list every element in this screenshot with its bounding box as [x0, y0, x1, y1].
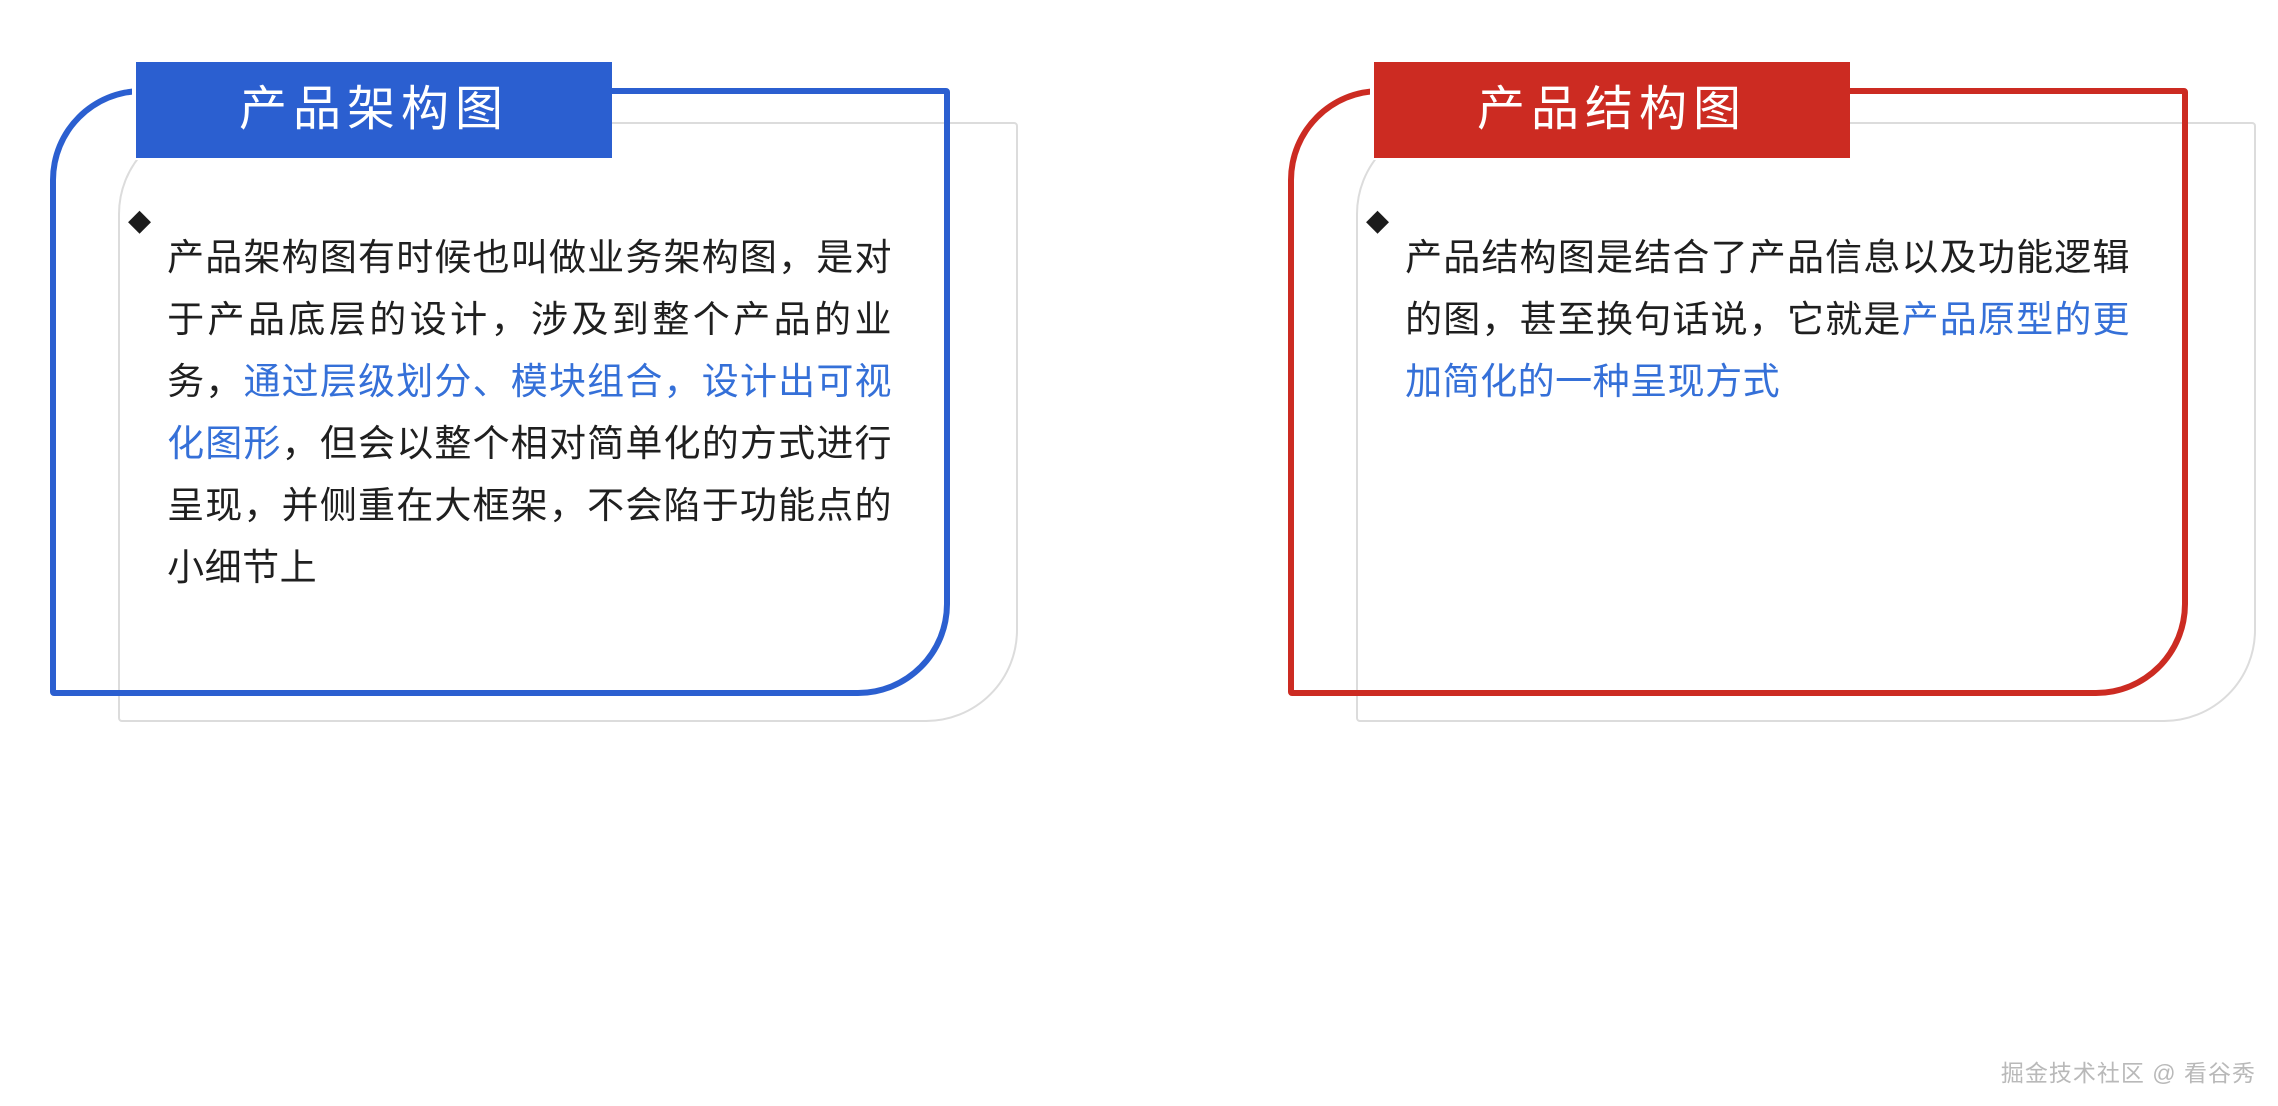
- card-header-ribbon: 产品架构图: [136, 62, 612, 158]
- bullet-item: ◆ 产品结构图是结合了产品信息以及功能逻辑的图，甚至换句话说，它就是产品原型的更…: [1330, 190, 2130, 450]
- card-title: 产品结构图: [1477, 86, 1747, 134]
- diamond-bullet-icon: ◆: [128, 190, 151, 252]
- diamond-bullet-icon: ◆: [1366, 190, 1389, 252]
- bullet-item: ◆ 产品架构图有时候也叫做业务架构图，是对于产品底层的设计，涉及到整个产品的业务…: [92, 190, 892, 636]
- card-product-architecture: 产品架构图 ◆ 产品架构图有时候也叫做业务架构图，是对于产品底层的设计，涉及到整…: [40, 0, 1040, 1106]
- watermark-label: 掘金技术社区 @ 看谷秀: [2001, 1054, 2256, 1088]
- card-title: 产品架构图: [239, 86, 509, 134]
- card-body: ◆ 产品结构图是结合了产品信息以及功能逻辑的图，甚至换句话说，它就是产品原型的更…: [1330, 190, 2130, 450]
- card-header-ribbon: 产品结构图: [1374, 62, 1850, 158]
- bullet-paragraph: 产品结构图是结合了产品信息以及功能逻辑的图，甚至换句话说，它就是产品原型的更加简…: [1405, 227, 2130, 413]
- slide-canvas: 产品架构图 ◆ 产品架构图有时候也叫做业务架构图，是对于产品底层的设计，涉及到整…: [0, 0, 2278, 1106]
- card-body: ◆ 产品架构图有时候也叫做业务架构图，是对于产品底层的设计，涉及到整个产品的业务…: [92, 190, 892, 636]
- card-product-structure: 产品结构图 ◆ 产品结构图是结合了产品信息以及功能逻辑的图，甚至换句话说，它就是…: [1278, 0, 2278, 1106]
- bullet-paragraph: 产品架构图有时候也叫做业务架构图，是对于产品底层的设计，涉及到整个产品的业务，通…: [167, 227, 892, 599]
